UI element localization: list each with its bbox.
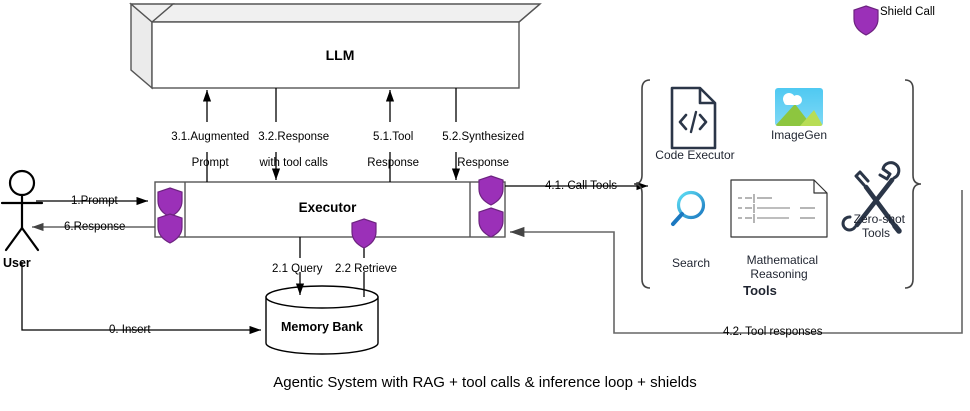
edge-label-call-tools: 4.1. Call Tools	[545, 180, 617, 193]
llm-node	[131, 4, 540, 88]
code-document-icon	[672, 88, 715, 148]
user-node	[2, 171, 42, 250]
executor-label: Executor	[186, 200, 469, 215]
tool-label-code-executor: Code Executor	[645, 148, 745, 162]
shield-icon-executor-left-bottom	[158, 214, 182, 243]
legend-label: Shield Call	[880, 6, 935, 18]
user-label: User	[3, 256, 31, 270]
shield-icon-executor-center-bottom	[352, 219, 376, 248]
formula-document-icon	[731, 180, 827, 237]
edge-label-response-tool-calls: 3.2.Response with tool calls	[228, 118, 353, 170]
magnifier-icon	[673, 193, 704, 225]
edge-label-query: 2.1 Query	[272, 263, 323, 276]
tool-label-imagegen: ImageGen	[759, 128, 839, 142]
tool-label-math-reasoning: MathematicalReasoning	[729, 239, 829, 281]
tools-brace-right	[905, 80, 921, 288]
shield-icon-legend	[854, 6, 878, 35]
tools-group-label: Tools	[700, 283, 820, 298]
edge-label-synthesized-response: 5.2.Synthesized Response	[420, 118, 540, 170]
image-icon	[775, 88, 823, 126]
tool-label-zeroshot-tools: Zero-shotTools	[838, 198, 914, 240]
llm-label: LLM	[165, 47, 515, 63]
edge-label-prompt: 1.Prompt	[71, 195, 118, 208]
memory-bank-label: Memory Bank	[262, 320, 382, 334]
edge-label-response: 6.Response	[64, 221, 125, 234]
edge-label-tool-responses: 4.2. Tool responses	[723, 326, 823, 339]
edge-label-retrieve: 2.2 Retrieve	[335, 263, 397, 276]
edge-label-insert: 0. Insert	[109, 324, 151, 337]
edge-insert	[22, 262, 261, 330]
tool-label-search: Search	[661, 256, 721, 270]
tools-brace-left	[634, 80, 650, 288]
diagram-caption: Agentic System with RAG + tool calls & i…	[0, 374, 970, 391]
